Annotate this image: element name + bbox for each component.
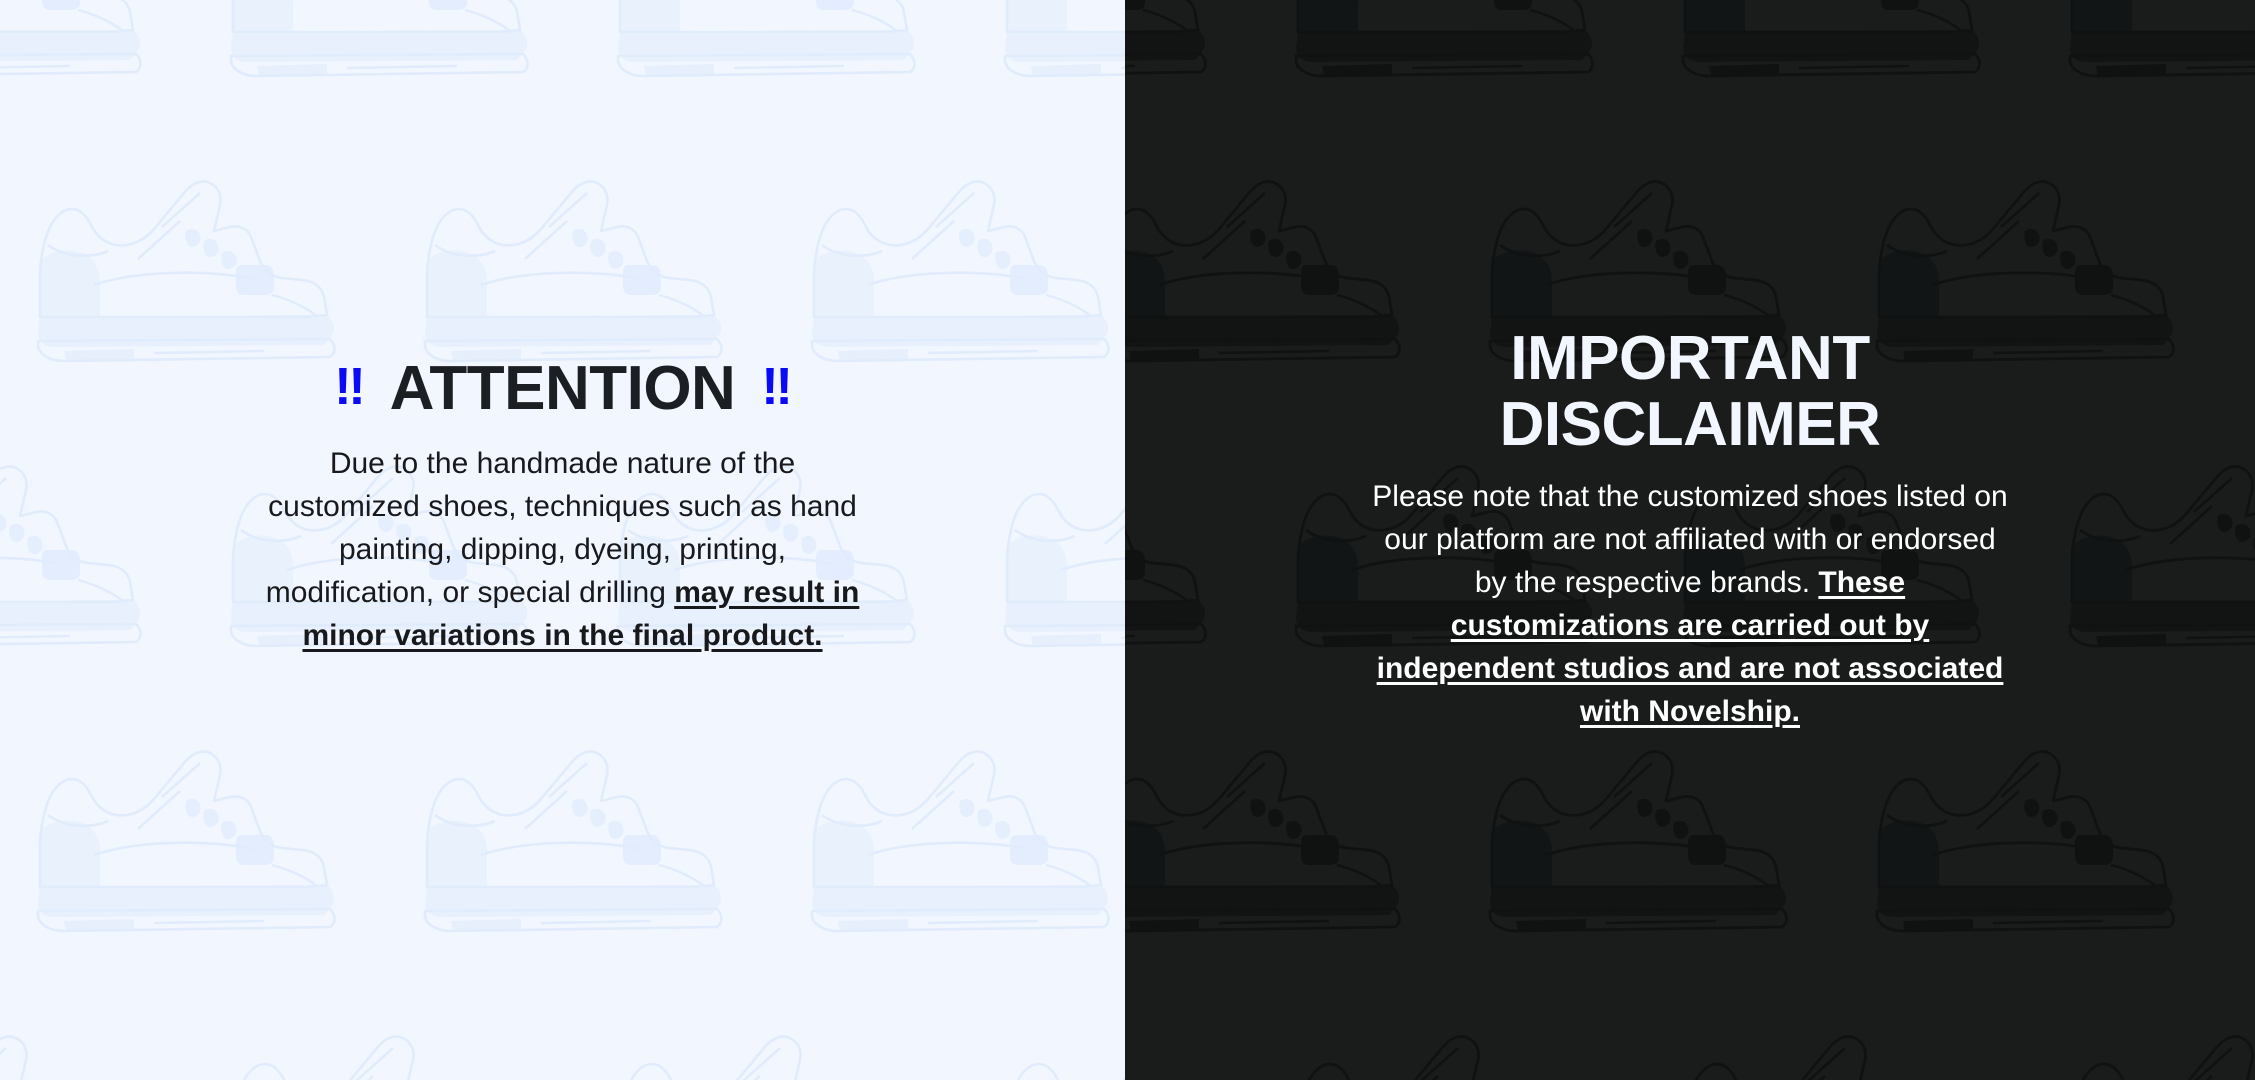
attention-content: ‼ ATTENTION ‼ Due to the handmade nature…	[0, 358, 1125, 657]
attention-heading-text: ATTENTION	[390, 358, 736, 420]
disclaimer-body: Please note that the customized shoes li…	[1370, 475, 2010, 733]
double-exclamation-icon-right: ‼	[761, 361, 790, 413]
double-exclamation-icon-left: ‼	[334, 361, 363, 413]
disclaimer-panel: IMPORTANT DISCLAIMER Please note that th…	[1125, 0, 2255, 1080]
disclaimer-content: IMPORTANT DISCLAIMER Please note that th…	[1125, 326, 2255, 733]
attention-heading: ‼ ATTENTION ‼	[0, 358, 1125, 420]
disclaimer-heading-line-1: IMPORTANT	[1125, 326, 2255, 392]
disclaimer-heading-line-2: DISCLAIMER	[1125, 392, 2255, 458]
disclaimer-heading: IMPORTANT DISCLAIMER	[1125, 326, 2255, 457]
attention-body: Due to the handmade nature of the custom…	[253, 442, 873, 657]
disclaimer-body-plain: Please note that the customized shoes li…	[1372, 480, 2007, 599]
attention-panel: ‼ ATTENTION ‼ Due to the handmade nature…	[0, 0, 1125, 1080]
